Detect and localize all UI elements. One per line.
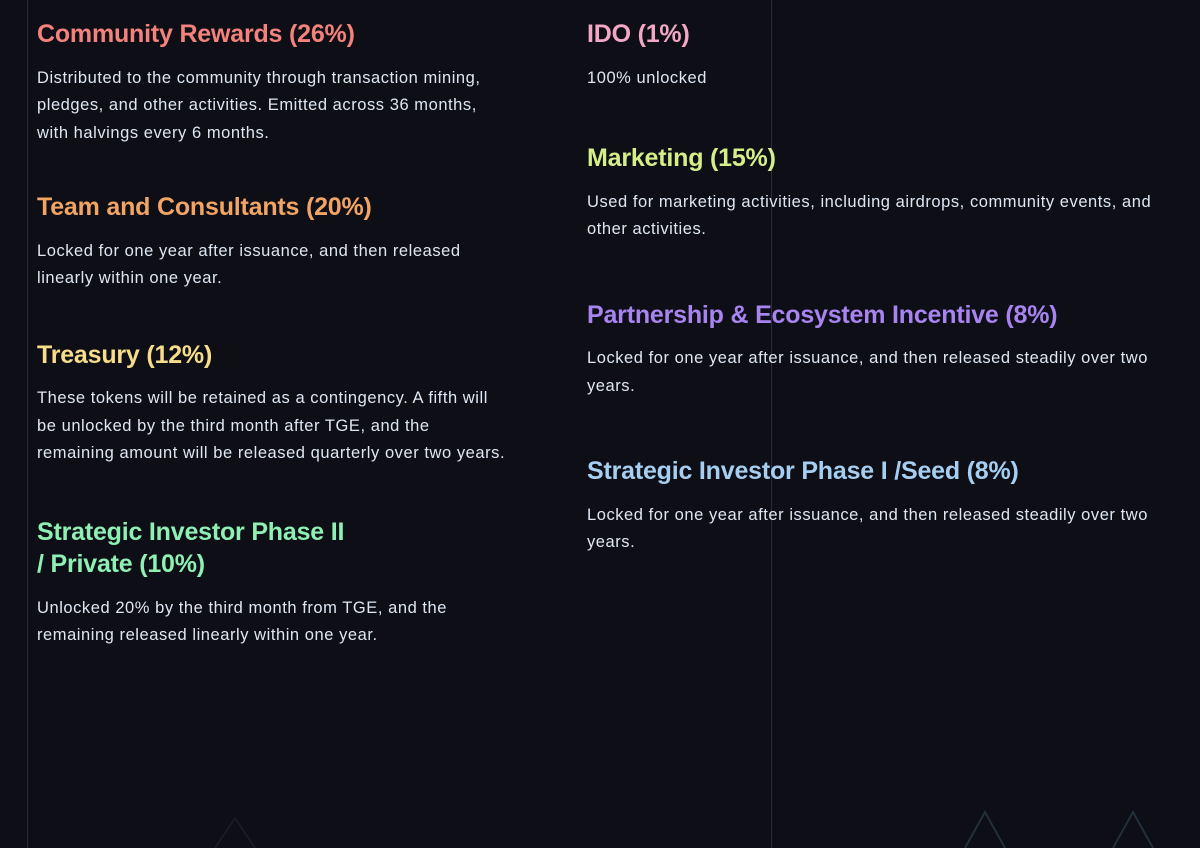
allocation-title: Partnership & Ecosystem Incentive (8%) [587, 299, 1182, 332]
allocation-column-right: IDO (1%) 100% unlocked Marketing (15%) U… [570, 0, 1200, 848]
allocation-column-left: Community Rewards (26%) Distributed to t… [0, 0, 570, 848]
allocation-block-community-rewards: Community Rewards (26%) Distributed to t… [37, 18, 550, 147]
allocation-title: Strategic Investor Phase I /Seed (8%) [587, 455, 1182, 488]
allocation-title: IDO (1%) [587, 18, 1182, 51]
allocation-description: Distributed to the community through tra… [37, 65, 507, 148]
allocation-block-marketing: Marketing (15%) Used for marketing activ… [587, 142, 1182, 244]
allocation-block-strategic-investor-phase-i: Strategic Investor Phase I /Seed (8%) Lo… [587, 455, 1182, 557]
allocation-title: Treasury (12%) [37, 339, 550, 372]
allocation-block-partnership-ecosystem-incentive: Partnership & Ecosystem Incentive (8%) L… [587, 299, 1182, 401]
allocation-description: Locked for one year after issuance, and … [587, 345, 1167, 400]
allocation-description: These tokens will be retained as a conti… [37, 385, 507, 468]
allocation-block-treasury: Treasury (12%) These tokens will be reta… [37, 339, 550, 468]
tokenomics-allocation-panel: Community Rewards (26%) Distributed to t… [0, 0, 1200, 848]
allocation-description: Used for marketing activities, including… [587, 189, 1167, 244]
allocation-description: Locked for one year after issuance, and … [587, 502, 1167, 557]
allocation-block-team-and-consultants: Team and Consultants (20%) Locked for on… [37, 191, 550, 293]
allocation-block-strategic-investor-phase-ii: Strategic Investor Phase II / Private (1… [37, 516, 550, 650]
allocation-title: Team and Consultants (20%) [37, 191, 550, 224]
allocation-title: Community Rewards (26%) [37, 18, 550, 51]
allocation-title: Marketing (15%) [587, 142, 1182, 175]
allocation-title: Strategic Investor Phase II / Private (1… [37, 516, 550, 581]
allocation-description: Unlocked 20% by the third month from TGE… [37, 595, 507, 650]
allocation-description: Locked for one year after issuance, and … [37, 238, 507, 293]
allocation-block-ido: IDO (1%) 100% unlocked [587, 18, 1182, 92]
allocation-description: 100% unlocked [587, 65, 1167, 93]
